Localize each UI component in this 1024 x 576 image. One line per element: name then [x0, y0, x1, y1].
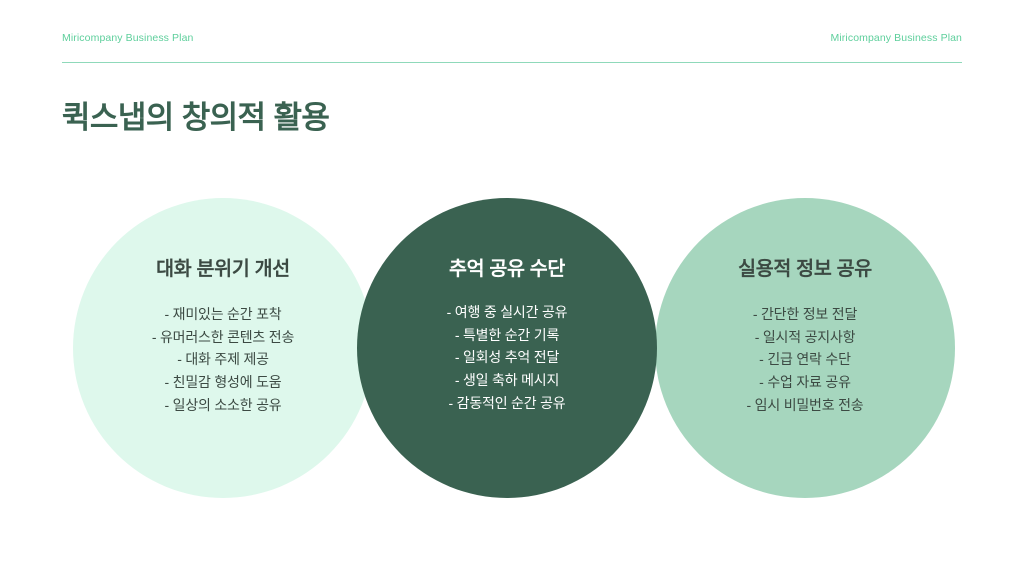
list-item: - 간단한 정보 전달: [747, 303, 864, 326]
circle-practical-info: 실용적 정보 공유 - 간단한 정보 전달 - 일시적 공지사항 - 긴급 연락…: [655, 198, 955, 498]
venn-circle-group: 대화 분위기 개선 - 재미있는 순간 포착 - 유머러스한 콘텐츠 전송 - …: [0, 0, 1024, 576]
list-item: - 수업 자료 공유: [747, 371, 864, 394]
list-item: - 임시 비밀번호 전송: [747, 394, 864, 417]
slide-canvas: Miricompany Business Plan Miricompany Bu…: [0, 0, 1024, 576]
list-item: - 긴급 연락 수단: [747, 348, 864, 371]
list-item: - 일시적 공지사항: [747, 326, 864, 349]
list-item: - 유머러스한 콘텐츠 전송: [152, 326, 294, 349]
list-item: - 여행 중 실시간 공유: [447, 301, 568, 324]
list-item: - 일상의 소소한 공유: [152, 394, 294, 417]
circle-conversation-mood: 대화 분위기 개선 - 재미있는 순간 포착 - 유머러스한 콘텐츠 전송 - …: [73, 198, 373, 498]
circle-1-list: - 재미있는 순간 포착 - 유머러스한 콘텐츠 전송 - 대화 주제 제공 -…: [152, 303, 294, 416]
circle-3-heading: 실용적 정보 공유: [738, 252, 872, 281]
circle-1-heading: 대화 분위기 개선: [156, 252, 290, 281]
list-item: - 대화 주제 제공: [152, 348, 294, 371]
list-item: - 특별한 순간 기록: [447, 324, 568, 347]
list-item: - 생일 축하 메시지: [447, 369, 568, 392]
circle-2-heading: 추억 공유 수단: [449, 252, 565, 281]
list-item: - 친밀감 형성에 도움: [152, 371, 294, 394]
circle-3-list: - 간단한 정보 전달 - 일시적 공지사항 - 긴급 연락 수단 - 수업 자…: [747, 303, 864, 416]
list-item: - 감동적인 순간 공유: [447, 392, 568, 415]
list-item: - 일회성 추억 전달: [447, 346, 568, 369]
circle-memory-sharing: 추억 공유 수단 - 여행 중 실시간 공유 - 특별한 순간 기록 - 일회성…: [357, 198, 657, 498]
circle-2-list: - 여행 중 실시간 공유 - 특별한 순간 기록 - 일회성 추억 전달 - …: [447, 301, 568, 414]
list-item: - 재미있는 순간 포착: [152, 303, 294, 326]
